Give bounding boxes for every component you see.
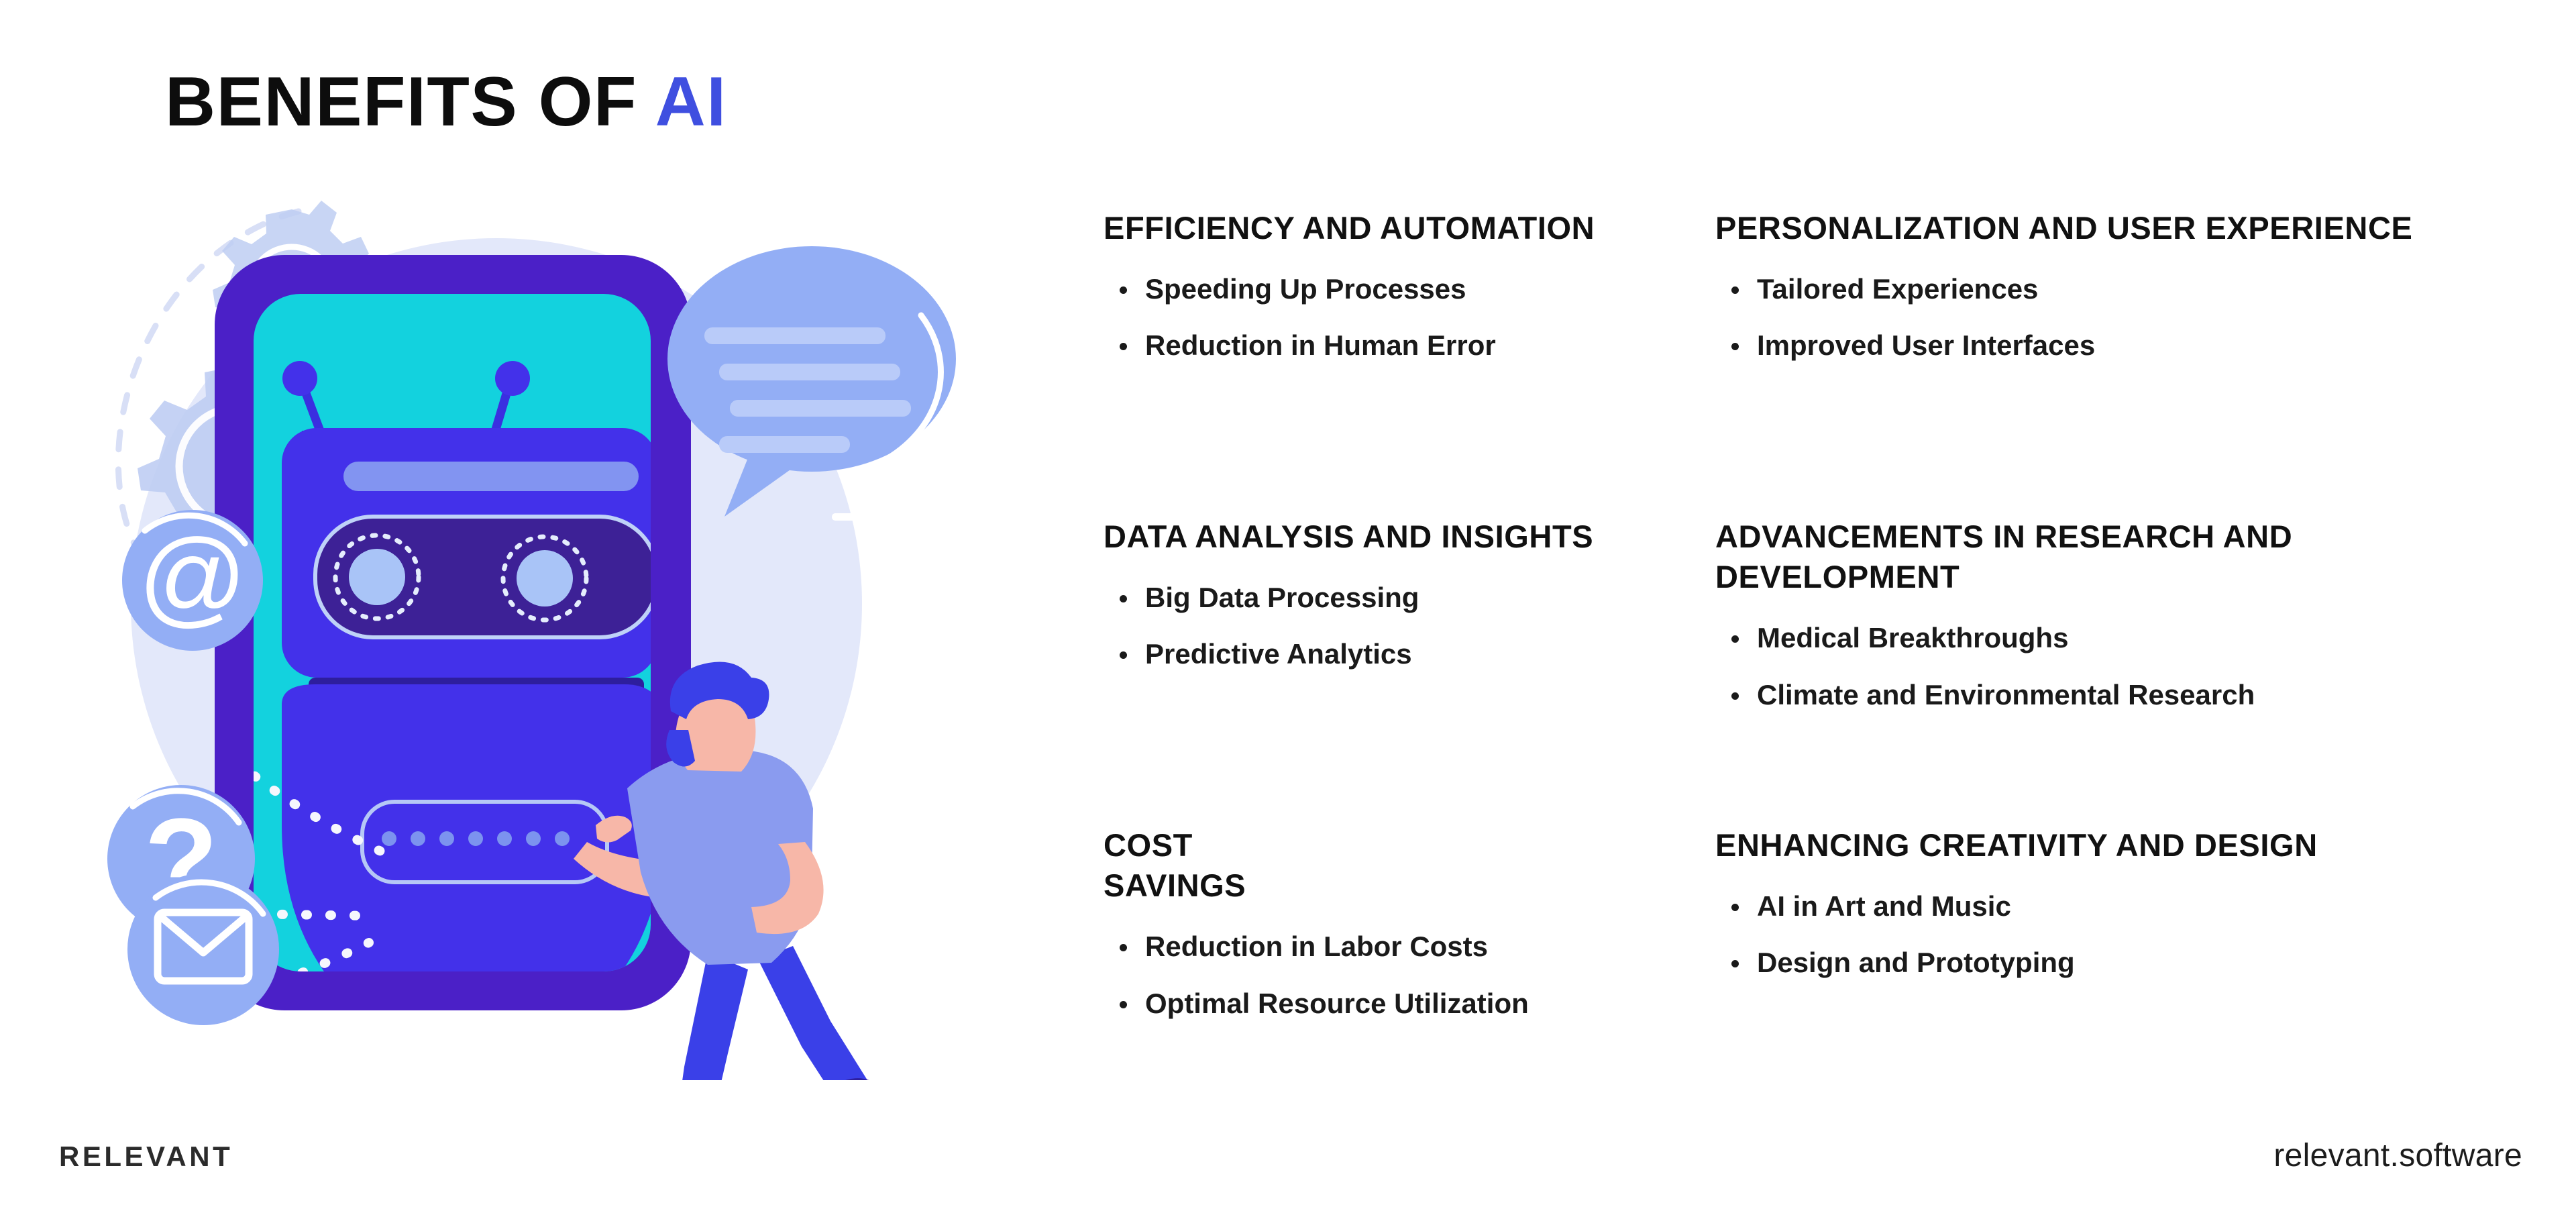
benefit-block-enhancing-creativity-and-design: ENHANCING CREATIVITY AND DESIGN AI in Ar… xyxy=(1707,825,2459,1134)
page-title-accent: AI xyxy=(655,63,727,141)
list-item: AI in Art and Music xyxy=(1715,891,2445,922)
benefit-block-efficiency-and-automation: EFFICIENCY AND AUTOMATION Speeding Up Pr… xyxy=(1104,208,1707,517)
list-item: Improved User Interfaces xyxy=(1715,330,2445,361)
benefit-heading: ADVANCEMENTS IN RESEARCH AND DEVELOPMENT xyxy=(1715,517,2445,597)
list-item: Predictive Analytics xyxy=(1104,639,1694,670)
list-item: Tailored Experiences xyxy=(1715,274,2445,305)
robot-eye-right xyxy=(517,550,573,606)
website-url: relevant.software xyxy=(2273,1137,2522,1174)
benefit-heading: ENHANCING CREATIVITY AND DESIGN xyxy=(1715,825,2445,865)
benefit-list: Medical Breakthroughs Climate and Enviro… xyxy=(1715,623,2445,710)
ai-robot-tablet-illustration: @ ? xyxy=(80,181,1020,1080)
list-item: Design and Prototyping xyxy=(1715,947,2445,978)
benefit-heading: COSTSAVINGS xyxy=(1104,825,1694,906)
list-item: Medical Breakthroughs xyxy=(1715,623,2445,653)
benefit-list: Tailored Experiences Improved User Inter… xyxy=(1715,274,2445,361)
page-title: BENEFITS OF AI xyxy=(165,67,727,137)
person-leg-left xyxy=(676,953,748,1080)
robot-eye-left xyxy=(349,549,405,605)
list-item: Reduction in Labor Costs xyxy=(1104,931,1694,962)
benefit-heading: EFFICIENCY AND AUTOMATION xyxy=(1104,208,1694,248)
infographic-page: BENEFITS OF AI xyxy=(0,0,2576,1213)
at-sign-icon: @ xyxy=(138,517,247,637)
benefit-list: Speeding Up Processes Reduction in Human… xyxy=(1104,274,1694,361)
list-item: Big Data Processing xyxy=(1104,582,1694,613)
list-item: Reduction in Human Error xyxy=(1104,330,1694,361)
benefit-block-personalization-and-user-experience: PERSONALIZATION AND USER EXPERIENCE Tail… xyxy=(1707,208,2459,517)
relevant-logo: RELEVANT xyxy=(59,1141,233,1173)
benefit-block-data-analysis-and-insights: DATA ANALYSIS AND INSIGHTS Big Data Proc… xyxy=(1104,517,1707,825)
list-item: Speeding Up Processes xyxy=(1104,274,1694,305)
benefit-list: Reduction in Labor Costs Optimal Resourc… xyxy=(1104,931,1694,1018)
list-item: Optimal Resource Utilization xyxy=(1104,988,1694,1019)
person-leg-right xyxy=(758,946,871,1080)
list-item: Climate and Environmental Research xyxy=(1715,680,2445,710)
envelope-badge xyxy=(127,874,279,1025)
benefit-heading: DATA ANALYSIS AND INSIGHTS xyxy=(1104,517,1694,557)
benefit-list: Big Data Processing Predictive Analytics xyxy=(1104,582,1694,670)
benefits-grid: EFFICIENCY AND AUTOMATION Speeding Up Pr… xyxy=(1104,208,2499,1134)
benefit-heading: PERSONALIZATION AND USER EXPERIENCE xyxy=(1715,208,2445,248)
benefit-list: AI in Art and Music Design and Prototypi… xyxy=(1715,891,2445,978)
robot-head-highlight xyxy=(343,462,639,491)
benefit-block-cost-savings: COSTSAVINGS Reduction in Labor Costs Opt… xyxy=(1104,825,1707,1134)
at-sign-badge: @ xyxy=(122,510,263,651)
page-title-main: BENEFITS OF xyxy=(165,63,655,141)
benefit-block-advancements-in-research-and-development: ADVANCEMENTS IN RESEARCH AND DEVELOPMENT… xyxy=(1707,517,2459,825)
